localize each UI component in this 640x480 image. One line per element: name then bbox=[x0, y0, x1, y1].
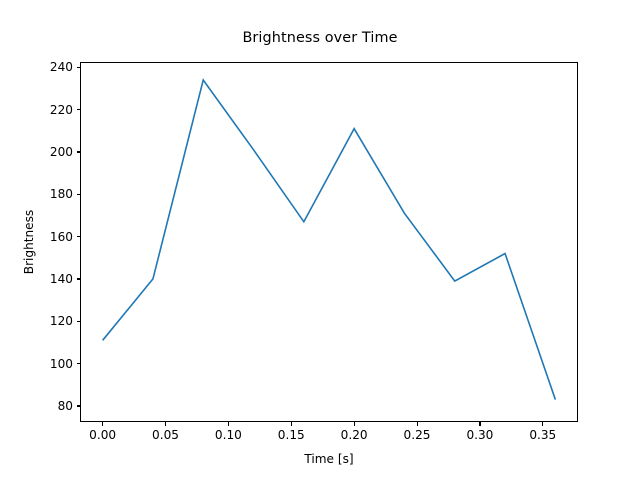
x-tick-mark bbox=[228, 422, 229, 426]
y-axis-tick-labels: 80100120140160180200220240 bbox=[0, 0, 73, 480]
y-tick-label: 180 bbox=[50, 187, 73, 201]
y-tick-mark bbox=[77, 278, 81, 279]
x-tick-mark bbox=[165, 422, 166, 426]
x-tick-label: 0.00 bbox=[89, 428, 116, 442]
y-tick-mark bbox=[77, 151, 81, 152]
x-tick-mark bbox=[542, 422, 543, 426]
y-tick-mark bbox=[77, 405, 81, 406]
x-tick-label: 0.25 bbox=[404, 428, 431, 442]
x-tick-mark bbox=[102, 422, 103, 426]
x-tick-label: 0.30 bbox=[466, 428, 493, 442]
data-series-line bbox=[103, 80, 556, 400]
y-tick-mark bbox=[77, 321, 81, 322]
x-tick-label: 0.35 bbox=[529, 428, 556, 442]
y-tick-label: 140 bbox=[50, 272, 73, 286]
x-axis-tick-labels: 0.000.050.100.150.200.250.300.35 bbox=[0, 428, 640, 448]
y-tick-label: 80 bbox=[58, 399, 73, 413]
y-tick-mark bbox=[77, 109, 81, 110]
y-tick-label: 200 bbox=[50, 145, 73, 159]
y-tick-mark bbox=[77, 194, 81, 195]
y-tick-label: 120 bbox=[50, 314, 73, 328]
x-axis-label: Time [s] bbox=[80, 452, 578, 466]
x-tick-mark bbox=[354, 422, 355, 426]
chart-title: Brightness over Time bbox=[0, 30, 640, 46]
y-tick-mark bbox=[77, 67, 81, 68]
x-tick-label: 0.20 bbox=[341, 428, 368, 442]
y-tick-label: 160 bbox=[50, 230, 73, 244]
x-tick-mark bbox=[291, 422, 292, 426]
plot-area bbox=[80, 62, 578, 422]
y-tick-label: 220 bbox=[50, 103, 73, 117]
x-tick-label: 0.05 bbox=[152, 428, 179, 442]
x-tick-mark bbox=[479, 422, 480, 426]
y-tick-mark bbox=[77, 236, 81, 237]
x-tick-label: 0.10 bbox=[215, 428, 242, 442]
matplotlib-figure: Brightness over Time Brightness 80100120… bbox=[0, 0, 640, 480]
y-tick-mark bbox=[77, 363, 81, 364]
y-tick-label: 240 bbox=[50, 60, 73, 74]
x-tick-label: 0.15 bbox=[278, 428, 305, 442]
y-tick-label: 100 bbox=[50, 357, 73, 371]
x-tick-mark bbox=[417, 422, 418, 426]
